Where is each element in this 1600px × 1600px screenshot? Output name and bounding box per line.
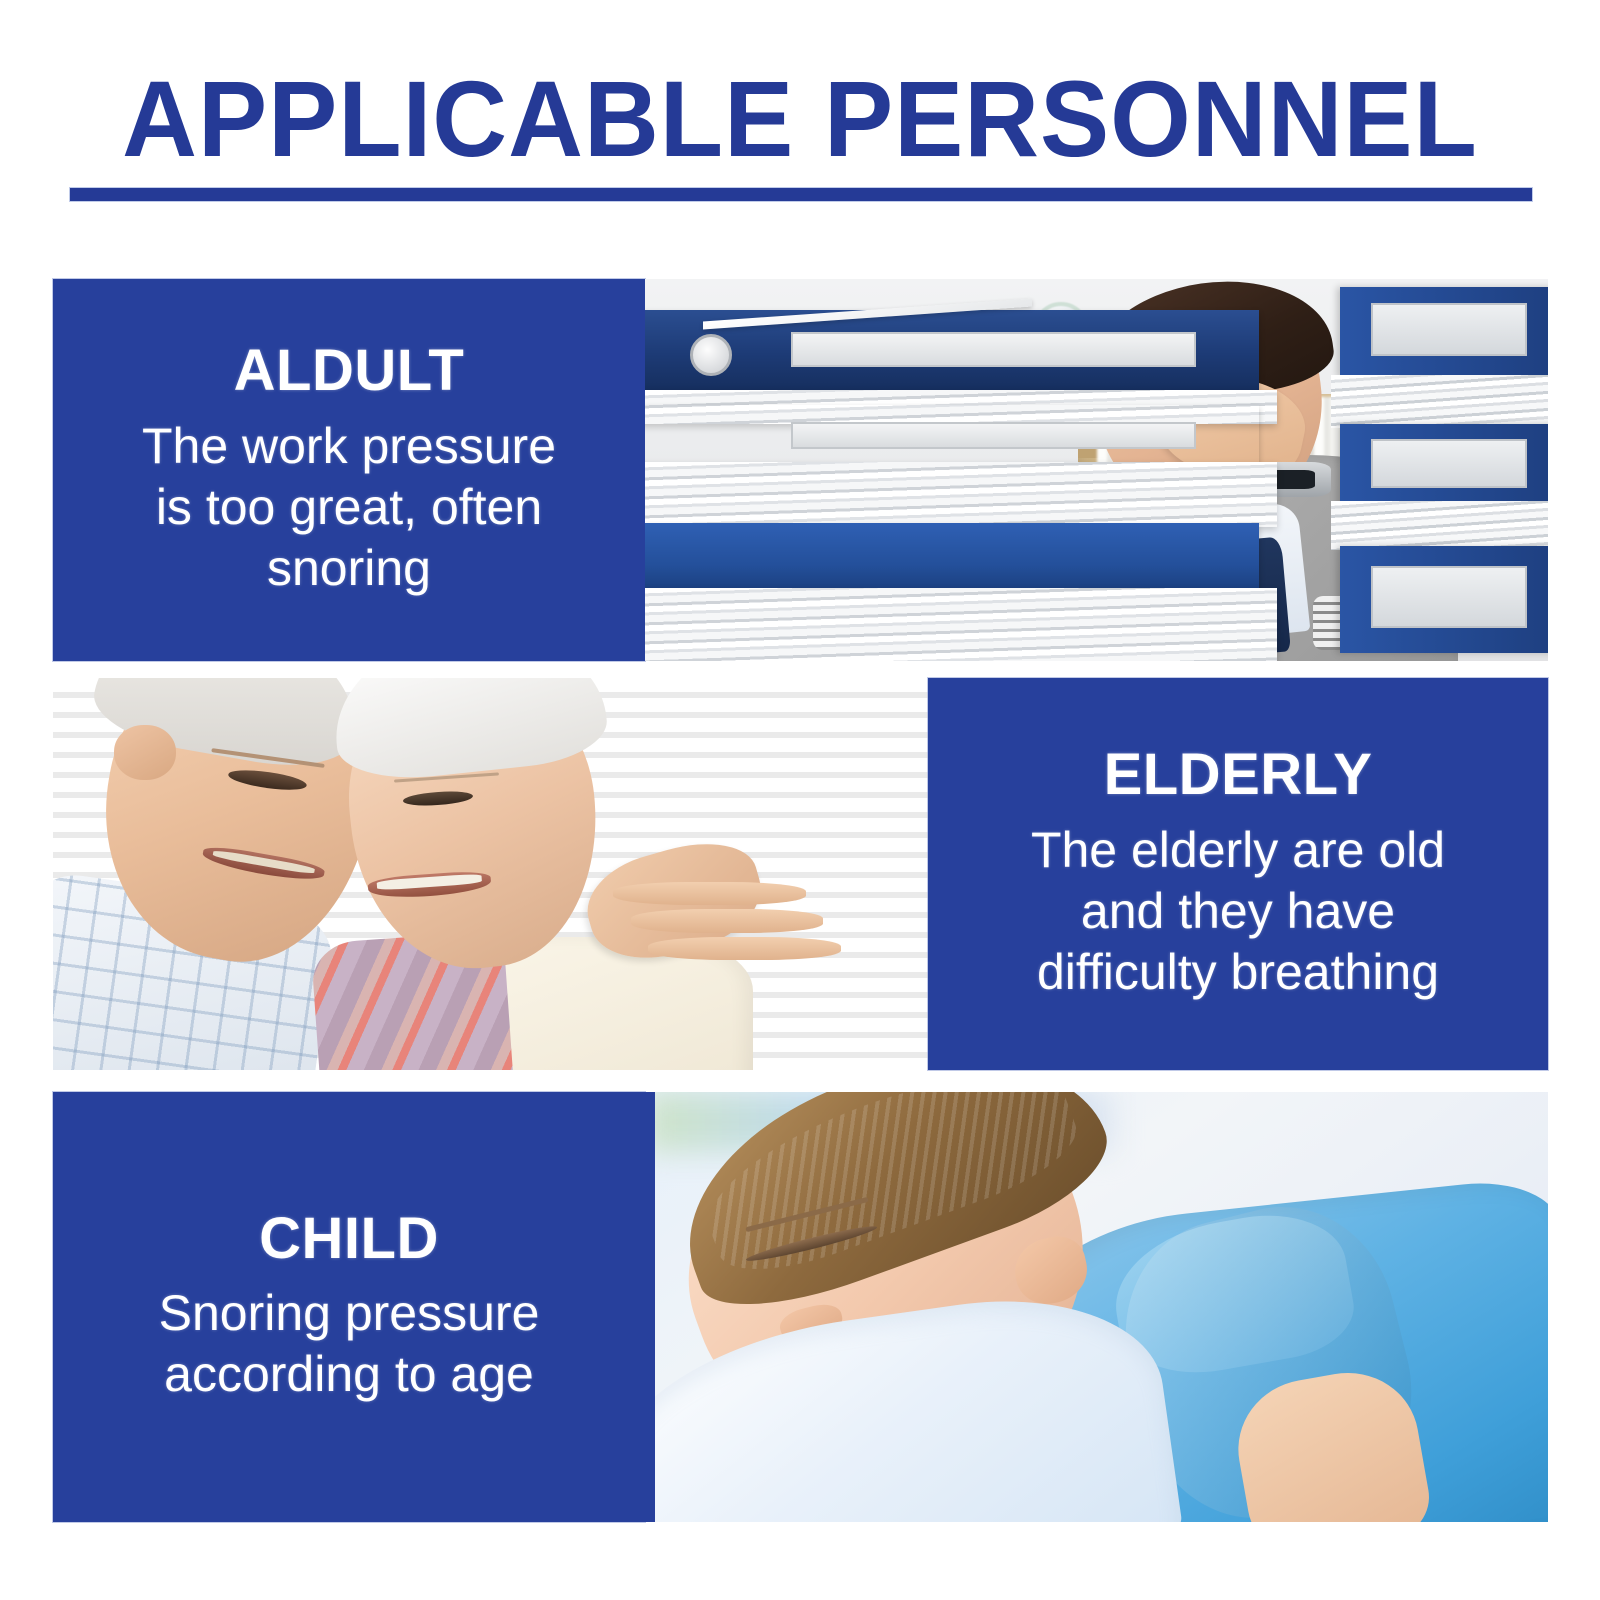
- section-row-adult: ALDULT The work pressure is too great, o…: [53, 279, 1548, 661]
- infographic-page: APPLICABLE PERSONNEL ALDULT The work pre…: [0, 0, 1600, 1600]
- paper-stack-middle: [645, 462, 1277, 527]
- panel-body-elderly-line-2: and they have: [1081, 881, 1395, 942]
- binder-label: [791, 332, 1196, 367]
- binder-blue: [645, 523, 1259, 592]
- finger: [631, 909, 824, 933]
- binder-label: [1371, 303, 1527, 356]
- page-title-wrapper: APPLICABLE PERSONNEL: [0, 62, 1600, 175]
- binder-navy: [645, 310, 1259, 390]
- panel-heading-elderly: ELDERLY: [1104, 745, 1373, 806]
- finger: [648, 937, 841, 961]
- panel-body-child-line-1: Snoring pressure: [159, 1283, 540, 1344]
- panel-heading-child: CHILD: [259, 1209, 439, 1270]
- photo-adult-office: [645, 279, 1548, 661]
- title-underline-rule: [70, 188, 1532, 201]
- right-paper-stack-top: [1331, 375, 1548, 428]
- panel-body-elderly-line-1: The elderly are old: [1031, 820, 1445, 881]
- panel-body-adult-line-2: is too great, often: [156, 477, 542, 538]
- right-binder-bottom: [1340, 546, 1548, 653]
- binder-ring-hole: [690, 334, 732, 376]
- section-row-child: CHILD Snoring pressure according to age: [53, 1092, 1548, 1522]
- right-binder-top: [1340, 287, 1548, 379]
- right-paper-stack-middle: [1331, 501, 1548, 551]
- section-row-elderly: ELDERLY The elderly are old and they hav…: [53, 678, 1548, 1070]
- photo-left-blue-edge: [645, 1092, 655, 1522]
- paper-stack-bottom: [645, 588, 1277, 661]
- panel-adult: ALDULT The work pressure is too great, o…: [53, 279, 645, 661]
- binder-label: [791, 422, 1196, 449]
- binder-label: [1371, 566, 1527, 628]
- binder-green: [645, 405, 1259, 466]
- binder-label: [1371, 439, 1527, 488]
- panel-elderly: ELDERLY The elderly are old and they hav…: [928, 678, 1548, 1070]
- finger: [613, 882, 806, 906]
- panel-body-elderly-line-3: difficulty breathing: [1037, 942, 1439, 1003]
- right-binder-middle: [1340, 424, 1548, 508]
- panel-heading-adult: ALDULT: [234, 341, 465, 402]
- photo-elderly-couple: [53, 678, 928, 1070]
- elderly-man-ear: [114, 725, 175, 780]
- page-title: APPLICABLE PERSONNEL: [32, 62, 1568, 175]
- panel-body-adult-line-1: The work pressure: [142, 416, 556, 477]
- photo-child-sleeping: [645, 1092, 1548, 1522]
- panel-body-adult-line-3: snoring: [267, 538, 431, 599]
- panel-child: CHILD Snoring pressure according to age: [53, 1092, 645, 1522]
- panel-body-child-line-2: according to age: [164, 1344, 534, 1405]
